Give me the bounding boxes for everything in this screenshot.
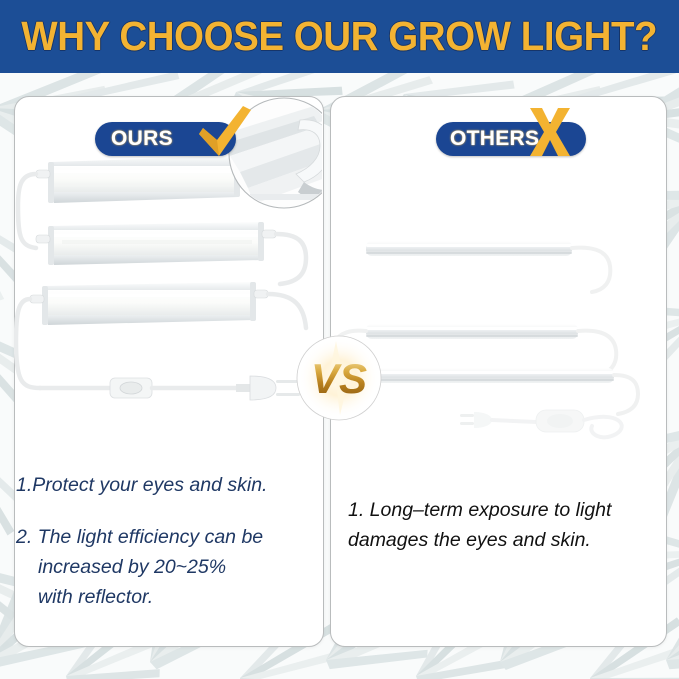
infographic-root: WHY CHOOSE OUR GROW LIGHT? [0, 0, 679, 679]
power-cord-others [460, 410, 622, 437]
bullet-ours-2-line2: increased by 20~25% [16, 552, 316, 582]
badge-ours: OURS [95, 122, 236, 156]
bullet-ours-2-line1: 2. The light efficiency can be [16, 526, 263, 548]
power-plug [236, 376, 300, 400]
bullets-ours: 1.Protect your eyes and skin. 2. The lig… [16, 470, 316, 634]
bullet-others-1-line3: skin. [551, 529, 591, 551]
page-title: WHY CHOOSE OUR GROW LIGHT? [22, 16, 658, 57]
header-banner: WHY CHOOSE OUR GROW LIGHT? [0, 0, 679, 73]
plain-tube-3 [366, 368, 638, 414]
plain-tube-1 [366, 241, 610, 292]
bullet-others-1-line1: 1. Long–term exposure to [348, 499, 570, 521]
bullet-ours-2: 2. The light efficiency can be increased… [16, 522, 316, 612]
bullet-ours-2-line3: with reflector. [16, 582, 316, 612]
light-fixture-3 [16, 282, 306, 388]
badge-ours-label: OURS [111, 127, 173, 151]
light-fixture-2 [36, 222, 306, 284]
vs-emblem: VS [296, 335, 382, 421]
bullet-ours-1-line1: 1.Protect your eyes and skin. [16, 474, 267, 496]
badge-others: OTHERS [436, 122, 586, 156]
vs-label: VS [311, 355, 367, 402]
badge-others-label: OTHERS [450, 127, 539, 151]
bullet-ours-1: 1.Protect your eyes and skin. [16, 470, 316, 500]
inline-switch-others [536, 410, 584, 432]
bullets-others: 1. Long–term exposure to light damages t… [348, 495, 648, 577]
power-cord-with-switch [40, 376, 300, 400]
bullet-others-1: 1. Long–term exposure to light damages t… [348, 495, 648, 555]
inline-switch [110, 378, 152, 398]
